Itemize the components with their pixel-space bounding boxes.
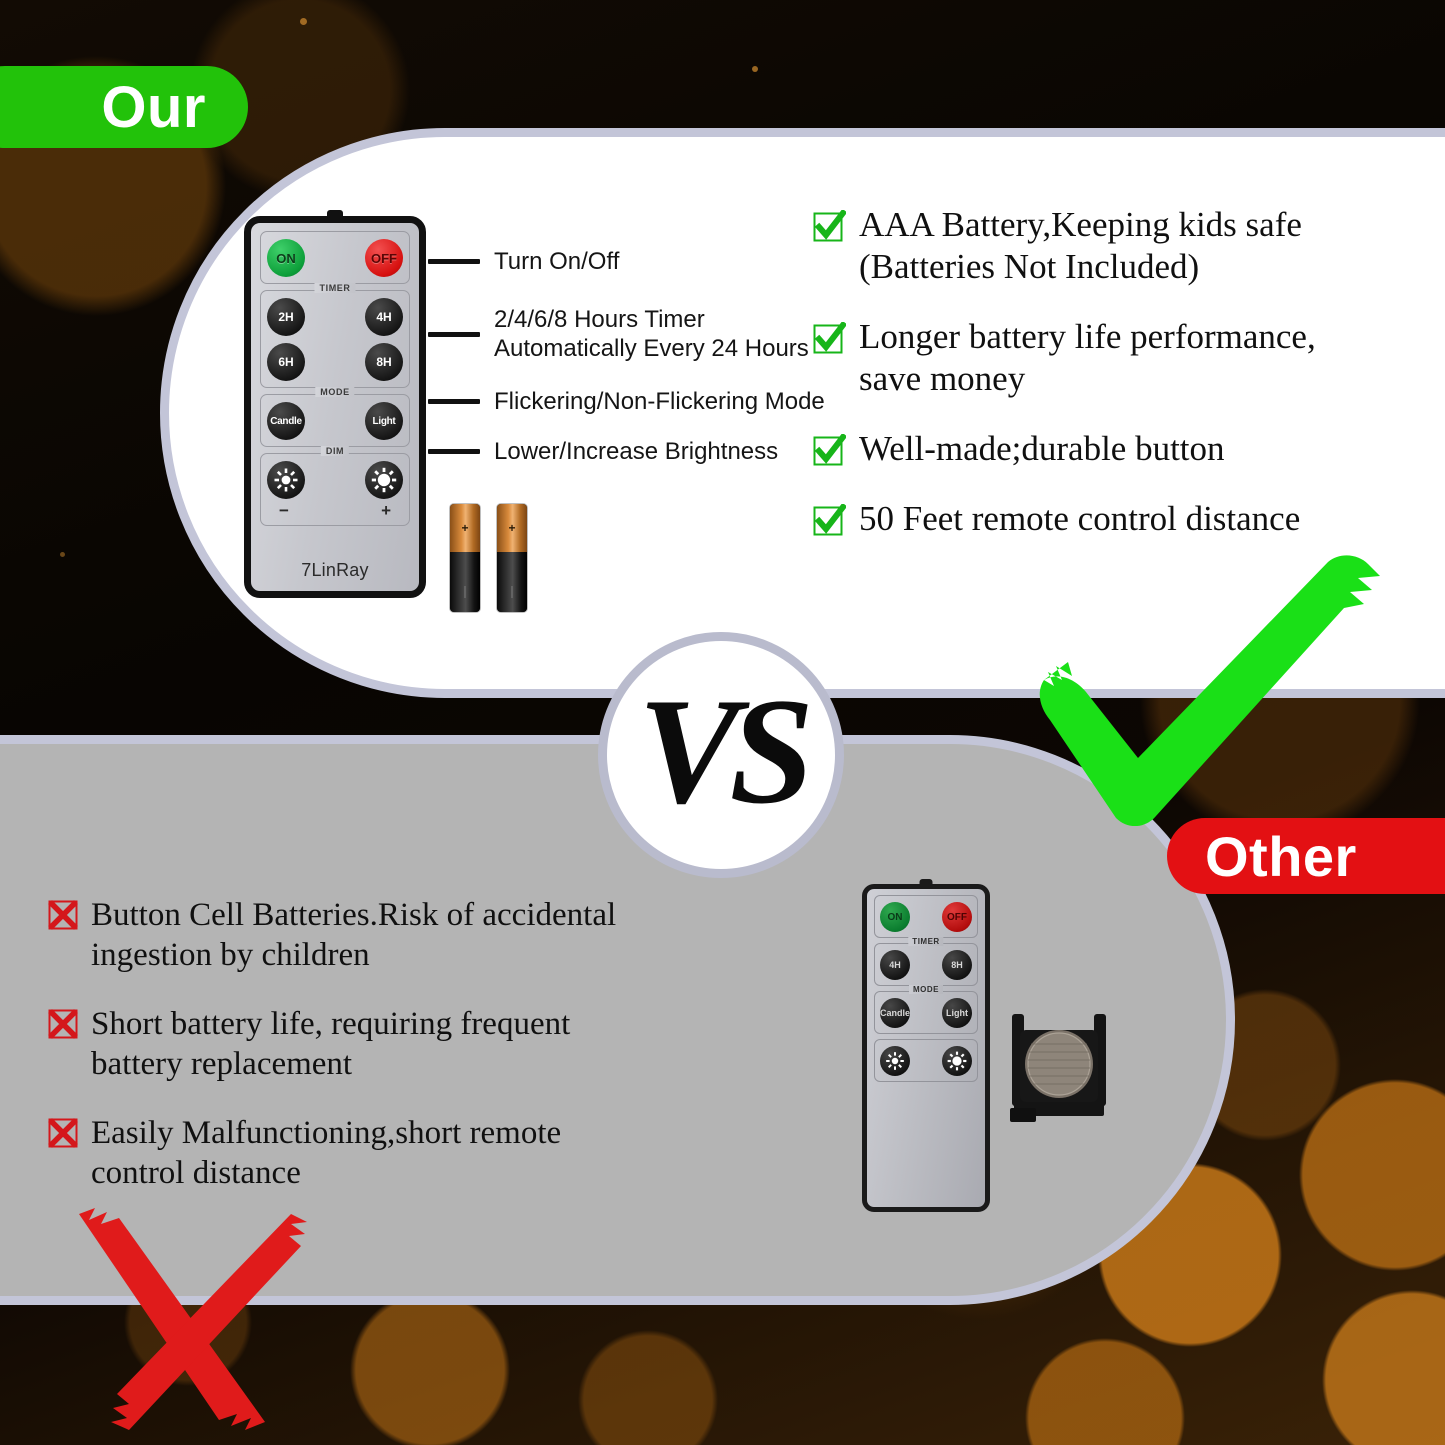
remote-brand-label: 7LinRay [260, 560, 410, 581]
x-box-icon [48, 900, 78, 930]
timer-group: TIMER 4H 8H [874, 943, 978, 986]
mode-group-label: MODE [909, 985, 943, 994]
check-box-icon [812, 504, 846, 538]
aaa-battery: + [450, 504, 480, 612]
power-group: ON OFF [260, 231, 410, 284]
timer-8h-button[interactable]: 8H [942, 950, 972, 980]
candle-mode-button[interactable]: Candle [880, 998, 910, 1028]
cons-list: Button Cell Batteries.Risk of accidental… [48, 896, 768, 1224]
callout-text: Flickering/Non-Flickering Mode [494, 387, 825, 416]
battery-tick [511, 586, 513, 598]
pros-list: AAA Battery,Keeping kids safe (Batteries… [812, 204, 1432, 568]
timer-group-label: TIMER [315, 283, 356, 293]
callout-leader-line [428, 332, 480, 337]
big-red-x-icon [55, 1192, 355, 1442]
con-text: Easily Malfunctioning,short remote contr… [91, 1114, 561, 1193]
other-remote-control[interactable]: ON OFF TIMER 4H 8H MODE Candle Light [862, 884, 990, 1212]
battery-polarity-label: + [450, 522, 480, 534]
callout-dim: Lower/Increase Brightness [428, 437, 778, 466]
light-mode-button[interactable]: Light [942, 998, 972, 1028]
x-box-icon [48, 1118, 78, 1148]
ir-emitter-nub [327, 210, 343, 217]
infographic-canvas: ON OFF TIMER 2H 4H 6H 8H MODE Candle Lig… [0, 0, 1445, 1445]
battery-polarity-label: + [497, 522, 527, 534]
dim-group-label: DIM [321, 446, 349, 456]
power-group: ON OFF [874, 895, 978, 938]
mode-group-label: MODE [315, 387, 354, 397]
pro-item: Well-made;durable button [812, 428, 1432, 470]
con-item: Easily Malfunctioning,short remote contr… [48, 1114, 768, 1193]
dim-plus-label: + [381, 502, 391, 519]
vs-label: VS [638, 675, 804, 827]
callout-leader-line [428, 449, 480, 454]
big-green-check-icon [1028, 552, 1418, 852]
light-mode-button[interactable]: Light [365, 402, 403, 440]
bokeh-spark [752, 66, 758, 72]
x-box-icon [48, 1009, 78, 1039]
bokeh-spark [300, 18, 307, 25]
coin-cell-battery-holder [1006, 1008, 1112, 1126]
dim-minus-label: − [279, 502, 289, 519]
check-box-icon [812, 322, 846, 356]
callout-text: Turn On/Off [494, 247, 619, 276]
bokeh-spark [60, 552, 65, 557]
callout-leader-line [428, 399, 480, 404]
off-button[interactable]: OFF [942, 902, 972, 932]
mode-group: MODE Candle Light [260, 394, 410, 447]
on-button[interactable]: ON [880, 902, 910, 932]
pro-item: 50 Feet remote control distance [812, 498, 1432, 540]
dim-down-button[interactable] [880, 1046, 910, 1076]
sun-large-icon [947, 1051, 967, 1071]
candle-mode-button[interactable]: Candle [267, 402, 305, 440]
pro-text: AAA Battery,Keeping kids safe (Batteries… [859, 204, 1302, 288]
callout-leader-line [428, 259, 480, 264]
pro-item: AAA Battery,Keeping kids safe (Batteries… [812, 204, 1432, 288]
timer-6h-button[interactable]: 6H [267, 343, 305, 381]
callout-text: Lower/Increase Brightness [494, 437, 778, 466]
con-text: Button Cell Batteries.Risk of accidental… [91, 896, 616, 975]
dim-group [874, 1039, 978, 1082]
sun-large-icon [371, 467, 397, 493]
pro-text: Longer battery life performance, save mo… [859, 316, 1316, 400]
dim-down-button[interactable] [267, 461, 305, 499]
timer-2h-button[interactable]: 2H [267, 298, 305, 336]
battery-bottom [497, 552, 527, 612]
con-text: Short battery life, requiring frequent b… [91, 1005, 570, 1084]
our-badge: Our [0, 66, 248, 148]
pro-text: Well-made;durable button [859, 428, 1225, 470]
callout-text: 2/4/6/8 Hours Timer Automatically Every … [494, 305, 809, 364]
mode-group: MODE Candle Light [874, 991, 978, 1034]
timer-4h-button[interactable]: 4H [365, 298, 403, 336]
battery-bottom [450, 552, 480, 612]
con-item: Button Cell Batteries.Risk of accidental… [48, 896, 768, 975]
timer-group-label: TIMER [908, 937, 943, 946]
callout-power: Turn On/Off [428, 247, 619, 276]
sun-small-icon [885, 1051, 905, 1071]
dim-up-button[interactable] [365, 461, 403, 499]
con-item: Short battery life, requiring frequent b… [48, 1005, 768, 1084]
pro-item: Longer battery life performance, save mo… [812, 316, 1432, 400]
callout-timer: 2/4/6/8 Hours Timer Automatically Every … [428, 305, 809, 364]
check-box-icon [812, 434, 846, 468]
our-remote-control[interactable]: ON OFF TIMER 2H 4H 6H 8H MODE Candle Lig… [244, 216, 426, 598]
callout-mode: Flickering/Non-Flickering Mode [428, 387, 825, 416]
on-button[interactable]: ON [267, 239, 305, 277]
vs-badge: VS [598, 632, 844, 878]
dim-group: DIM [260, 453, 410, 526]
aaa-battery: + [497, 504, 527, 612]
sun-small-icon [273, 467, 299, 493]
battery-tick [464, 586, 466, 598]
check-box-icon [812, 210, 846, 244]
pro-text: 50 Feet remote control distance [859, 498, 1300, 540]
timer-8h-button[interactable]: 8H [365, 343, 403, 381]
timer-4h-button[interactable]: 4H [880, 950, 910, 980]
off-button[interactable]: OFF [365, 239, 403, 277]
our-badge-label: Our [101, 74, 206, 141]
dim-up-button[interactable] [942, 1046, 972, 1076]
timer-group: TIMER 2H 4H 6H 8H [260, 290, 410, 388]
ir-emitter-nub [920, 879, 933, 885]
